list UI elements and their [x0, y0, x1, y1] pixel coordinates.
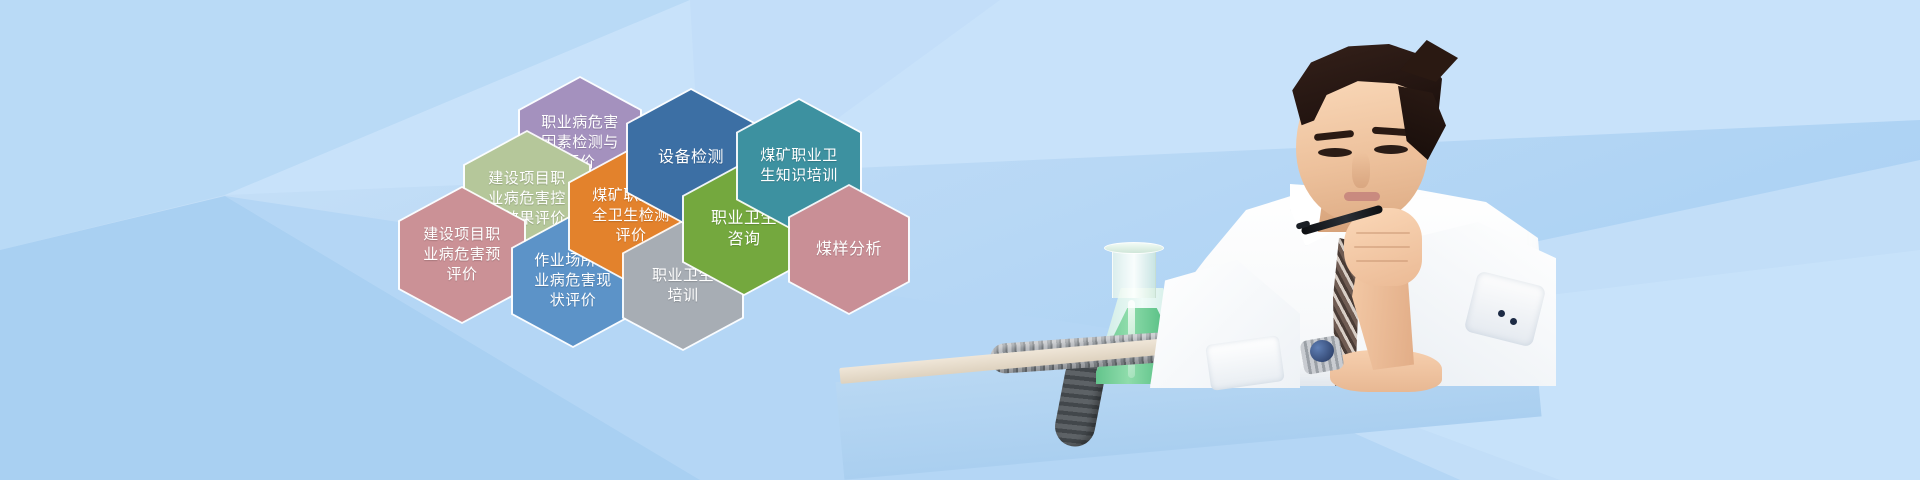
knuckle-line-1 — [1356, 232, 1410, 234]
knuckle-line-3 — [1356, 260, 1408, 262]
knuckle-line-2 — [1354, 246, 1410, 248]
banner-root: 职业病危害因素检测与评价建设项目职业病危害控制效果评价建设项目职业病危害预评价作… — [0, 0, 1920, 480]
hexagon-face[interactable]: 煤样分析 — [790, 186, 908, 313]
photo-composite — [1000, 0, 1560, 480]
service-hexagon-3[interactable]: 建设项目职业病危害预评价 — [400, 188, 524, 322]
flask-lip — [1104, 242, 1164, 254]
eye-left — [1318, 148, 1352, 157]
hexagon-label: 煤样分析 — [806, 239, 892, 260]
hexagon-face[interactable]: 建设项目职业病危害预评价 — [400, 188, 524, 322]
service-hexagon-10[interactable]: 煤样分析 — [790, 186, 908, 313]
mouth — [1344, 192, 1380, 201]
eye-right — [1374, 145, 1408, 154]
nose — [1352, 152, 1370, 188]
cuff-button-2 — [1510, 318, 1517, 325]
hexagon-label: 建设项目职业病危害预评价 — [413, 225, 511, 284]
cuff-button-1 — [1498, 310, 1505, 317]
hexagon-label: 煤矿职业卫生知识培训 — [750, 146, 848, 186]
